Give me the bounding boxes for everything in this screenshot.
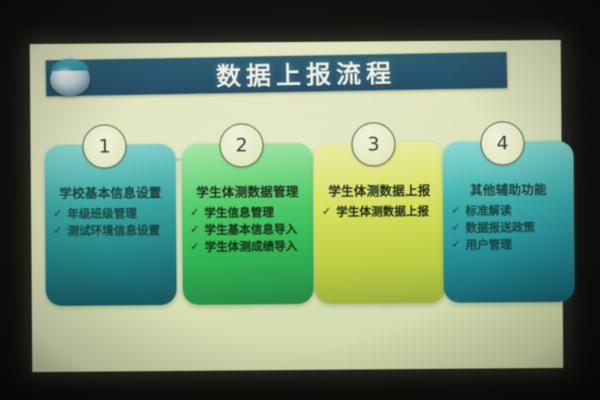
list-item: ✓ 学生体测数据上报 — [322, 204, 439, 219]
step-number-badge-1: 1 — [82, 124, 126, 168]
process-steps-row: 1 学校基本信息设置 ✓ 年级班级管理 ✓ 测试环境信息设置 — [30, 40, 564, 372]
step-card-body-1[interactable]: 学校基本信息设置 ✓ 年级班级管理 ✓ 测试环境信息设置 — [45, 144, 177, 306]
step-number-badge-2: 2 — [219, 123, 263, 167]
check-icon: ✓ — [190, 223, 199, 237]
list-item: ✓ 学生基本信息导入 — [190, 222, 307, 237]
list-item-label: 学生体测成绩导入 — [204, 239, 307, 254]
list-item-label: 用户管理 — [465, 237, 568, 252]
check-icon: ✓ — [190, 206, 199, 220]
process-step-card-1[interactable]: 1 学校基本信息设置 ✓ 年级班级管理 ✓ 测试环境信息设置 — [45, 144, 177, 306]
step-card-items-1: ✓ 年级班级管理 ✓ 测试环境信息设置 — [53, 206, 170, 241]
list-item-label: 学生基本信息导入 — [204, 222, 307, 237]
list-item: ✓ 学生体测成绩导入 — [190, 239, 307, 254]
check-icon: ✓ — [451, 204, 460, 218]
list-item-label: 学生体测数据上报 — [336, 204, 439, 219]
process-step-card-4[interactable]: 4 其他辅助功能 ✓ 标准解读 ✓ 数据报送政策 — [443, 141, 575, 303]
list-item-label: 年级班级管理 — [67, 206, 170, 221]
step-card-items-2: ✓ 学生信息管理 ✓ 学生基本信息导入 ✓ 学生体测成绩导入 — [190, 205, 307, 257]
list-item: ✓ 标准解读 — [451, 203, 568, 218]
step-card-items-3: ✓ 学生体测数据上报 — [322, 204, 439, 222]
list-item: ✓ 数据报送政策 — [451, 220, 568, 235]
list-item-label: 标准解读 — [465, 203, 568, 218]
check-icon: ✓ — [53, 207, 62, 221]
check-icon: ✓ — [451, 238, 460, 252]
list-item-label: 数据报送政策 — [465, 220, 568, 235]
check-icon: ✓ — [53, 224, 62, 238]
list-item-label: 学生信息管理 — [204, 205, 307, 220]
step-card-items-4: ✓ 标准解读 ✓ 数据报送政策 ✓ 用户管理 — [451, 203, 568, 255]
list-item: ✓ 年级班级管理 — [53, 206, 170, 221]
step-card-title-1: 学校基本信息设置 — [45, 182, 176, 202]
step-card-title-2: 学生体测数据管理 — [182, 181, 313, 201]
card-gloss-overlay — [314, 142, 446, 304]
presentation-slide: 数据上报流程 1 学校基本信息设置 ✓ 年级班级管理 — [30, 40, 564, 372]
check-icon: ✓ — [322, 205, 331, 219]
step-card-title-4: 其他辅助功能 — [443, 179, 574, 199]
list-item: ✓ 学生信息管理 — [190, 205, 307, 220]
step-card-title-3: 学生体测数据上报 — [314, 180, 445, 200]
step-number-badge-3: 3 — [351, 122, 395, 166]
step-card-body-3[interactable]: 学生体测数据上报 ✓ 学生体测数据上报 — [314, 142, 446, 304]
list-item: ✓ 用户管理 — [451, 237, 568, 252]
process-step-card-3[interactable]: 3 学生体测数据上报 ✓ 学生体测数据上报 — [314, 142, 446, 304]
check-icon: ✓ — [190, 240, 199, 254]
list-item-label: 测试环境信息设置 — [67, 223, 170, 238]
step-card-body-4[interactable]: 其他辅助功能 ✓ 标准解读 ✓ 数据报送政策 ✓ 用户管理 — [443, 141, 575, 303]
check-icon: ✓ — [451, 221, 460, 235]
step-card-body-2[interactable]: 学生体测数据管理 ✓ 学生信息管理 ✓ 学生基本信息导入 ✓ 学生体测成绩导入 — [182, 143, 314, 305]
projected-slide-photo: 数据上报流程 1 学校基本信息设置 ✓ 年级班级管理 — [0, 0, 600, 400]
step-number-badge-4: 4 — [480, 121, 524, 165]
list-item: ✓ 测试环境信息设置 — [53, 223, 170, 238]
process-step-card-2[interactable]: 2 学生体测数据管理 ✓ 学生信息管理 ✓ 学生基本信息导入 — [182, 143, 314, 305]
